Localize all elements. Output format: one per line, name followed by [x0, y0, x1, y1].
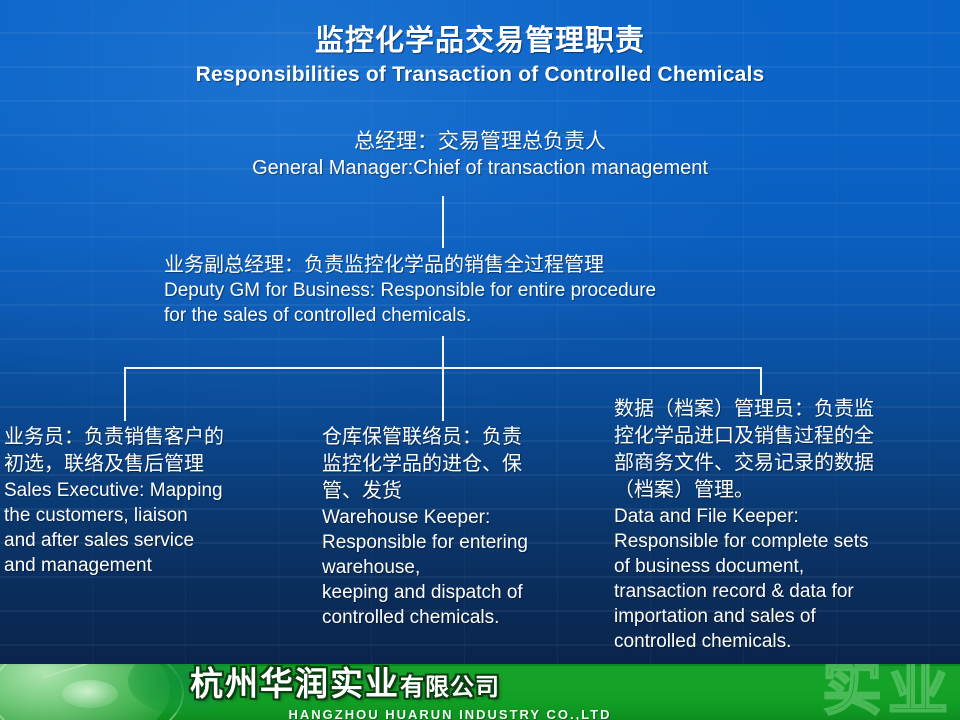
- deputy-english-line-1: Deputy GM for Business: Responsible for …: [164, 278, 864, 303]
- sales-english-line-4: and management: [4, 553, 304, 578]
- sales-chinese-line-1: 业务员：负责销售客户的: [4, 424, 304, 451]
- warehouse-english-line-4: keeping and dispatch of: [322, 580, 604, 605]
- warehouse-english-line-1: Warehouse Keeper:: [322, 505, 604, 530]
- warehouse-chinese-line-2: 监控化学品的进仓、保: [322, 451, 604, 478]
- data-english-line-2: Responsible for complete sets: [614, 529, 958, 554]
- footer-leaf-stem: [43, 664, 97, 678]
- sales-english-line-3: and after sales service: [4, 528, 304, 553]
- org-node-sales-executive: 业务员：负责销售客户的 初选，联络及售后管理 Sales Executive: …: [4, 424, 304, 578]
- org-node-deputy-gm: 业务副总经理：负责监控化学品的销售全过程管理 Deputy GM for Bus…: [164, 252, 864, 328]
- data-chinese-line-1: 数据（档案）管理员：负责监: [614, 396, 958, 423]
- data-chinese-line-2: 控化学品进口及销售过程的全: [614, 423, 958, 450]
- gm-english-line-1: General Manager:Chief of transaction man…: [0, 155, 960, 181]
- deputy-english-line-2: for the sales of controlled chemicals.: [164, 303, 864, 328]
- connector-gm-to-deputy: [442, 196, 444, 248]
- footer-leaf-orb-small: [62, 680, 118, 708]
- data-english-line-1: Data and File Keeper:: [614, 504, 958, 529]
- warehouse-chinese-line-3: 管、发货: [322, 478, 604, 505]
- title-chinese: 监控化学品交易管理职责: [0, 24, 960, 58]
- sales-chinese-line-2: 初选，联络及售后管理: [4, 451, 304, 478]
- connector-deputy-down: [442, 336, 444, 368]
- data-english-line-5: importation and sales of: [614, 604, 958, 629]
- footer-logo-chinese-main: 杭州华润实业: [190, 665, 400, 702]
- footer-logo-chinese: 杭州华润实业有限公司: [190, 667, 750, 705]
- footer-logo-chinese-suffix: 有限公司: [400, 674, 500, 701]
- warehouse-english-line-2: Responsible for entering: [322, 530, 604, 555]
- slide-canvas: 监控化学品交易管理职责 Responsibilities of Transact…: [0, 0, 960, 720]
- connector-drop-data: [760, 367, 762, 395]
- org-node-data-file-keeper: 数据（档案）管理员：负责监 控化学品进口及销售过程的全 部商务文件、交易记录的数…: [614, 396, 958, 654]
- title-english: Responsibilities of Transaction of Contr…: [0, 61, 960, 89]
- footer-top-divider: [0, 664, 960, 666]
- footer-watermark-text: 实业: [822, 664, 954, 720]
- footer-logo-english: HANGZHOU HUARUN INDUSTRY CO.,LTD: [190, 707, 750, 720]
- footer-leaf-orb-ring: [0, 664, 184, 720]
- org-node-warehouse-keeper: 仓库保管联络员：负责 监控化学品的进仓、保 管、发货 Warehouse Kee…: [322, 424, 604, 630]
- footer-company-logo: 杭州华润实业有限公司 HANGZHOU HUARUN INDUSTRY CO.,…: [190, 667, 750, 720]
- footer-leaf-orb-large: [0, 664, 170, 720]
- data-english-line-4: transaction record & data for: [614, 579, 958, 604]
- connector-drop-warehouse: [442, 367, 444, 421]
- warehouse-english-line-3: warehouse,: [322, 555, 604, 580]
- data-english-line-6: controlled chemicals.: [614, 629, 958, 654]
- data-english-line-3: of business document,: [614, 554, 958, 579]
- sales-english-line-1: Sales Executive: Mapping: [4, 478, 304, 503]
- org-node-general-manager: 总经理：交易管理总负责人 General Manager:Chief of tr…: [0, 128, 960, 181]
- warehouse-chinese-line-1: 仓库保管联络员：负责: [322, 424, 604, 451]
- warehouse-english-line-5: controlled chemicals.: [322, 605, 604, 630]
- gm-chinese: 总经理：交易管理总负责人: [0, 128, 960, 155]
- data-chinese-line-3: 部商务文件、交易记录的数据: [614, 450, 958, 477]
- slide-title: 监控化学品交易管理职责 Responsibilities of Transact…: [0, 24, 960, 89]
- footer-logo-band: 实业 杭州华润实业有限公司 HANGZHOU HUARUN INDUSTRY C…: [0, 664, 960, 720]
- deputy-chinese: 业务副总经理：负责监控化学品的销售全过程管理: [164, 252, 864, 278]
- data-chinese-line-4: （档案）管理。: [614, 477, 958, 504]
- connector-drop-sales: [124, 367, 126, 421]
- sales-english-line-2: the customers, liaison: [4, 503, 304, 528]
